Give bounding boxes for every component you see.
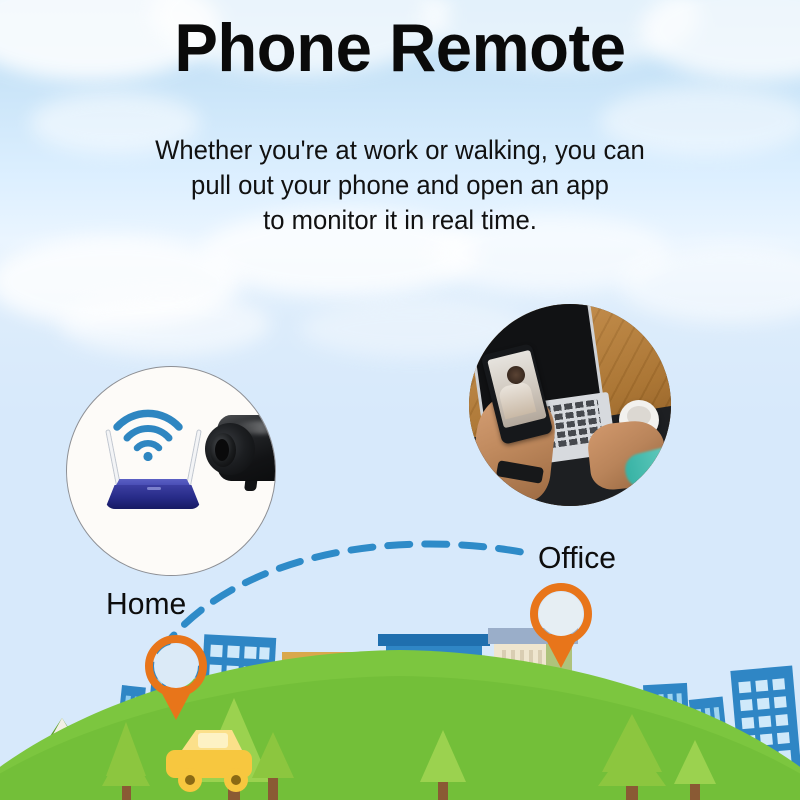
home-map-pin-icon[interactable] [140,632,212,724]
camera-lens-inner [215,439,229,461]
office-map-pin-icon[interactable] [525,580,597,672]
city-skyline [0,600,800,800]
router-led [147,487,161,490]
page-title: Phone Remote [16,14,784,82]
subtitle-line-2: pull out your phone and open an app [20,168,780,203]
wifi-icon [113,409,183,461]
phone-video-call-at-desk-photo [469,304,671,506]
subtitle-line-1: Whether you're at work or walking, you c… [20,133,780,168]
infographic-canvas: Phone Remote Whether you're at work or w… [0,0,800,800]
subtitle-line-3: to monitor it in real time. [20,203,780,238]
office-label: Office [538,540,616,576]
page-subtitle: Whether you're at work or walking, you c… [20,133,780,238]
